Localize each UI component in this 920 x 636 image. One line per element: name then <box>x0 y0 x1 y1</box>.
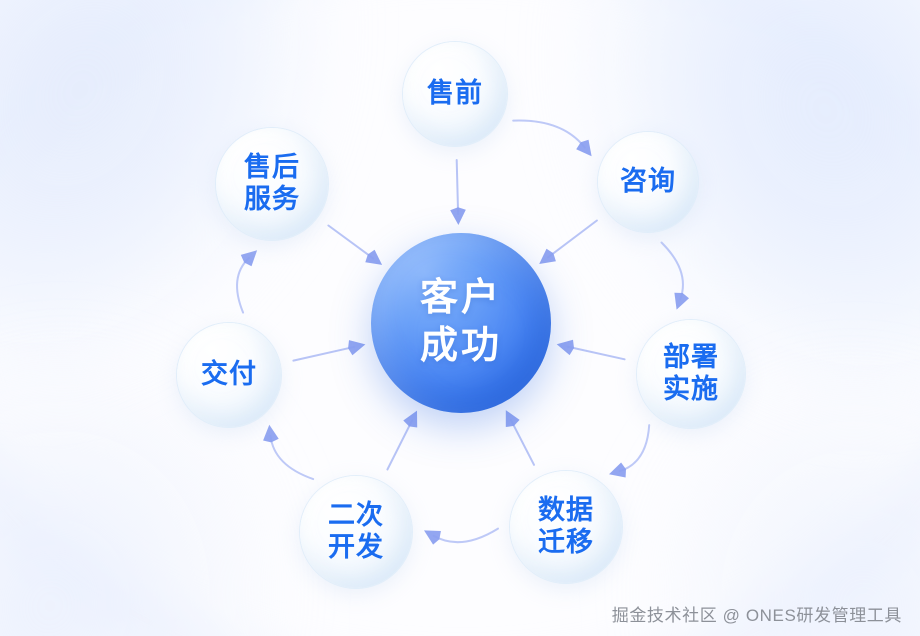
diagram-canvas: 客户 成功 售前咨询部署 实施数据 迁移二次 开发交付售后 服务 掘金技术社区 … <box>0 0 920 636</box>
node-label-delivery: 交付 <box>201 359 257 391</box>
arrow-delivery-to-center <box>293 347 354 361</box>
arrowhead-delivery-to-center <box>348 340 365 355</box>
arrowhead-pre-sales-to-center <box>450 207 466 225</box>
arrow-deployment-to-data-migration <box>620 425 650 471</box>
node-delivery[interactable]: 交付 <box>177 323 281 427</box>
node-label-consultation: 咨询 <box>620 166 676 198</box>
arrow-pre-sales-to-center <box>457 160 458 214</box>
arrowhead-secondary-dev-to-center <box>403 411 417 428</box>
node-consultation[interactable]: 咨询 <box>598 132 698 232</box>
arrowhead-after-sales-to-center <box>365 250 382 265</box>
node-label-deployment: 部署 实施 <box>663 342 719 406</box>
arrowhead-consultation-to-center <box>539 249 556 264</box>
node-after-sales[interactable]: 售后 服务 <box>216 128 328 240</box>
arrowhead-data-migration-to-center <box>506 410 520 427</box>
watermark-text: 掘金技术社区 @ ONES研发管理工具 <box>612 601 902 626</box>
arrow-consultation-to-deployment <box>662 243 683 300</box>
node-deployment[interactable]: 部署 实施 <box>637 320 745 428</box>
arrow-pre-sales-to-consultation <box>513 120 585 147</box>
arrow-consultation-to-center <box>548 221 597 258</box>
arrow-data-migration-to-center <box>511 420 534 465</box>
node-label-secondary-dev: 二次 开发 <box>328 500 384 564</box>
arrowhead-data-migration-to-secondary-dev <box>424 530 441 544</box>
arrow-delivery-to-after-sales <box>237 258 249 313</box>
arrow-secondary-dev-to-center <box>387 420 412 469</box>
node-secondary-dev[interactable]: 二次 开发 <box>300 476 412 588</box>
arrowhead-pre-sales-to-consultation <box>576 140 591 157</box>
arrow-data-migration-to-secondary-dev <box>434 529 499 543</box>
arrow-after-sales-to-center <box>328 226 373 259</box>
arrowhead-consultation-to-deployment <box>674 293 689 310</box>
arrowhead-secondary-dev-to-delivery <box>263 425 279 443</box>
arrowhead-deployment-to-data-migration <box>609 463 626 478</box>
node-label-after-sales: 售后 服务 <box>244 152 300 216</box>
node-pre-sales[interactable]: 售前 <box>403 42 507 146</box>
node-label-pre-sales: 售前 <box>427 78 483 110</box>
arrow-deployment-to-center <box>567 347 624 360</box>
center-node-customer-success[interactable]: 客户 成功 <box>371 233 551 413</box>
node-label-data-migration: 数据 迁移 <box>538 495 594 559</box>
node-data-migration[interactable]: 数据 迁移 <box>510 471 622 583</box>
arrow-secondary-dev-to-delivery <box>271 436 314 479</box>
center-node-label: 客户 成功 <box>420 275 502 371</box>
arrowhead-deployment-to-center <box>557 340 574 355</box>
